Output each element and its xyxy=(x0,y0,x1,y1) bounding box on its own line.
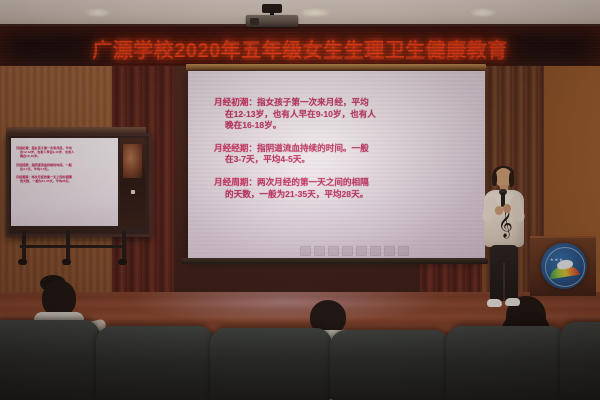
monitor-paragraph: 月经初潮：指女孩子第一次来月经，平均 在12-13岁，也有人早在9-10岁，也有… xyxy=(16,146,114,159)
slide-paragraph: 月经初潮：指女孩子第一次来月经，平均 在12-13岁，也有人早在9-10岁，也有… xyxy=(214,97,475,132)
monitor-paragraph: 月经周期：两次月经的第一天之间的相隔 的天数，一般为21-35天，平均28天。 xyxy=(16,175,114,183)
monitor-power-button[interactable] xyxy=(131,190,135,194)
monitor-cart xyxy=(14,231,136,265)
auditorium-seat xyxy=(446,326,566,400)
more-options-icon[interactable] xyxy=(398,246,409,256)
projector-icon xyxy=(246,4,298,27)
presenter-hair-side xyxy=(492,172,497,186)
slide-paragraph: 月经周期：两次月经的第一天之间的相隔 的天数，一般为21-35天，平均28天。 xyxy=(214,177,475,200)
cart-caster xyxy=(18,259,27,265)
cart-caster xyxy=(118,259,127,265)
slide-line: 的天数，一般为21-35天，平均28天。 xyxy=(214,189,475,201)
highlighter-icon[interactable] xyxy=(356,246,367,256)
slide-line: 在3-7天，平均4-5天。 xyxy=(214,154,475,166)
auditorium-seat xyxy=(96,326,214,400)
presenter-leg-gap xyxy=(503,263,505,301)
presenter-hair-side xyxy=(509,172,514,187)
monitor-line: 的天数，一般为21-35天，平均28天。 xyxy=(16,179,114,183)
slide-term: 月经初潮： xyxy=(214,97,257,107)
cart-crossbar xyxy=(20,245,126,248)
next-slide-icon[interactable] xyxy=(314,246,325,256)
monitor-bezel-right xyxy=(120,138,146,226)
presenter: 𝄞 xyxy=(476,168,532,320)
slide-line: 两次月经的第一天之间的相隔 xyxy=(257,177,369,187)
screen-bottom-rail xyxy=(182,258,488,264)
projection-screen: 月经初潮：指女孩子第一次来月经，平均 在12-13岁，也有人早在9-10岁，也有… xyxy=(188,71,485,261)
slide-term: 月经经期： xyxy=(214,143,257,153)
ceiling-light-icon xyxy=(85,8,111,17)
cart-caster xyxy=(62,259,71,265)
slide-line: 指女孩子第一次来月经，平均 xyxy=(257,97,369,107)
slide-paragraph: 月经经期：指阴道流血持续的时间。一般 在3-7天，平均4-5天。 xyxy=(214,143,475,166)
pointer-icon[interactable] xyxy=(342,246,353,256)
projector-lens-icon xyxy=(250,18,259,25)
bezel-reflection xyxy=(123,144,142,178)
auditorium-seat xyxy=(210,328,332,400)
magnify-icon[interactable] xyxy=(370,246,381,256)
presenter-shoe-left xyxy=(487,299,502,307)
auditorium-photo: 广源学校2020年五年级女生生理卫生健康教育 月经初潮：指女孩子第一次来月经，平… xyxy=(0,0,600,400)
slide-line: 指阴道流血持续的时间。一般 xyxy=(257,143,369,153)
monitor-screen: 月经初潮：指女孩子第一次来月经，平均 在12-13岁，也有人早在9-10岁，也有… xyxy=(11,138,118,226)
slide-line: 晚在16-18岁。 xyxy=(214,120,475,132)
student-head xyxy=(42,280,76,316)
slide-line: 在12-13岁，也有人早在9-10岁，也有人 xyxy=(214,109,475,121)
slide-content: 月经初潮：指女孩子第一次来月经，平均 在12-13岁，也有人早在9-10岁，也有… xyxy=(214,97,475,211)
slide-grid-icon[interactable] xyxy=(384,246,395,256)
side-monitor: 月经初潮：指女孩子第一次来月经，平均 在12-13岁，也有人早在9-10岁，也有… xyxy=(6,133,152,237)
powerpoint-slideshow-toolbar[interactable] xyxy=(300,246,409,256)
projection-screen-housing xyxy=(186,64,486,71)
auditorium-seat xyxy=(330,330,450,400)
presenter-hand-right xyxy=(503,204,511,213)
school-emblem-icon: ★★★ xyxy=(541,243,587,289)
pen-icon[interactable] xyxy=(328,246,339,256)
monitor-paragraph: 月经经期：指阴道流血持续的时间。一般 在3-7天，平均4-5天。 xyxy=(16,163,114,171)
ceiling-light-icon xyxy=(300,8,330,17)
monitor-line: 在3-7天，平均4-5天。 xyxy=(16,167,114,171)
auditorium-seat xyxy=(560,322,600,400)
monitor-top-bar xyxy=(6,127,146,134)
slide-term: 月经周期： xyxy=(214,177,257,187)
ceiling-light-icon xyxy=(470,8,496,17)
auditorium-seat xyxy=(0,320,100,400)
presenter-shoe-right xyxy=(505,298,520,306)
presenter-hand-left xyxy=(495,206,503,215)
monitor-line: 晚在16-18岁。 xyxy=(16,154,114,158)
monitor-slide-mirror: 月经初潮：指女孩子第一次来月经，平均 在12-13岁，也有人早在9-10岁，也有… xyxy=(16,146,114,187)
previous-slide-icon[interactable] xyxy=(300,246,311,256)
